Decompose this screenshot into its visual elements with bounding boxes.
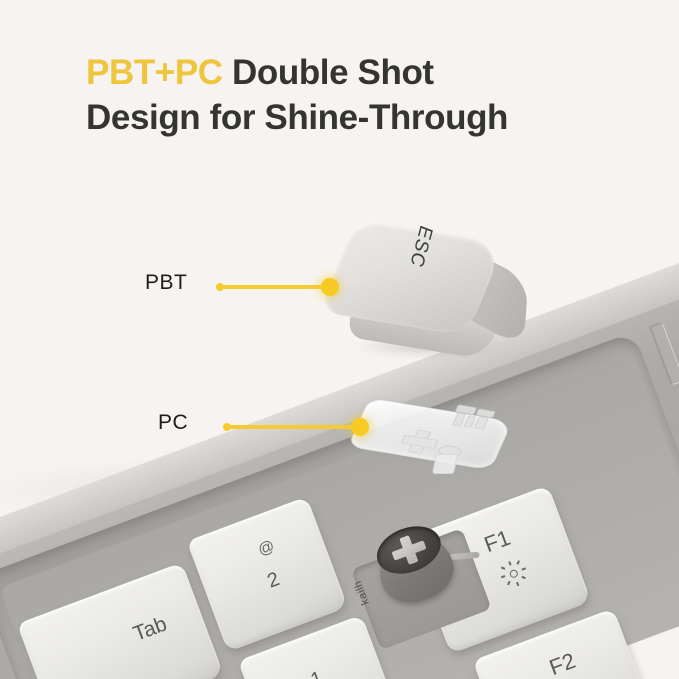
callout-dot-large-pbt bbox=[321, 278, 339, 296]
key-2-secondary: @ bbox=[256, 538, 278, 561]
page-title: PBT+PC Double Shot Design for Shine-Thro… bbox=[86, 50, 646, 140]
callout-label-pc: PC bbox=[158, 411, 188, 435]
promo-image-stage: PBT+PC Double Shot Design for Shine-Thro… bbox=[0, 0, 679, 679]
pc-underlayer bbox=[346, 388, 536, 480]
callout-dot-large-pc bbox=[351, 418, 369, 436]
callout-dot-small-pc bbox=[223, 423, 231, 431]
headline-line2: Design for Shine-Through bbox=[86, 98, 508, 137]
key-f2-label: F2 bbox=[546, 648, 579, 679]
switch-pin bbox=[449, 552, 479, 560]
pc-nub-detail bbox=[432, 454, 458, 474]
key-f1-label: F1 bbox=[481, 525, 514, 558]
headline-highlight: PBT+PC bbox=[86, 53, 223, 92]
callout-label-pbt: PBT bbox=[145, 271, 187, 295]
key-2-label: 2 bbox=[264, 568, 282, 593]
headline-rest: Double Shot bbox=[223, 53, 434, 92]
callout-leader-line-pc bbox=[225, 425, 357, 429]
key-1-label: 1 bbox=[308, 667, 326, 679]
brightness-icon bbox=[497, 557, 530, 590]
callout-dot-small-pbt bbox=[216, 283, 224, 291]
key-tab-label: Tab bbox=[130, 612, 170, 646]
pbt-keycap: ESC bbox=[318, 218, 538, 363]
callout-leader-line-pbt bbox=[218, 285, 330, 289]
